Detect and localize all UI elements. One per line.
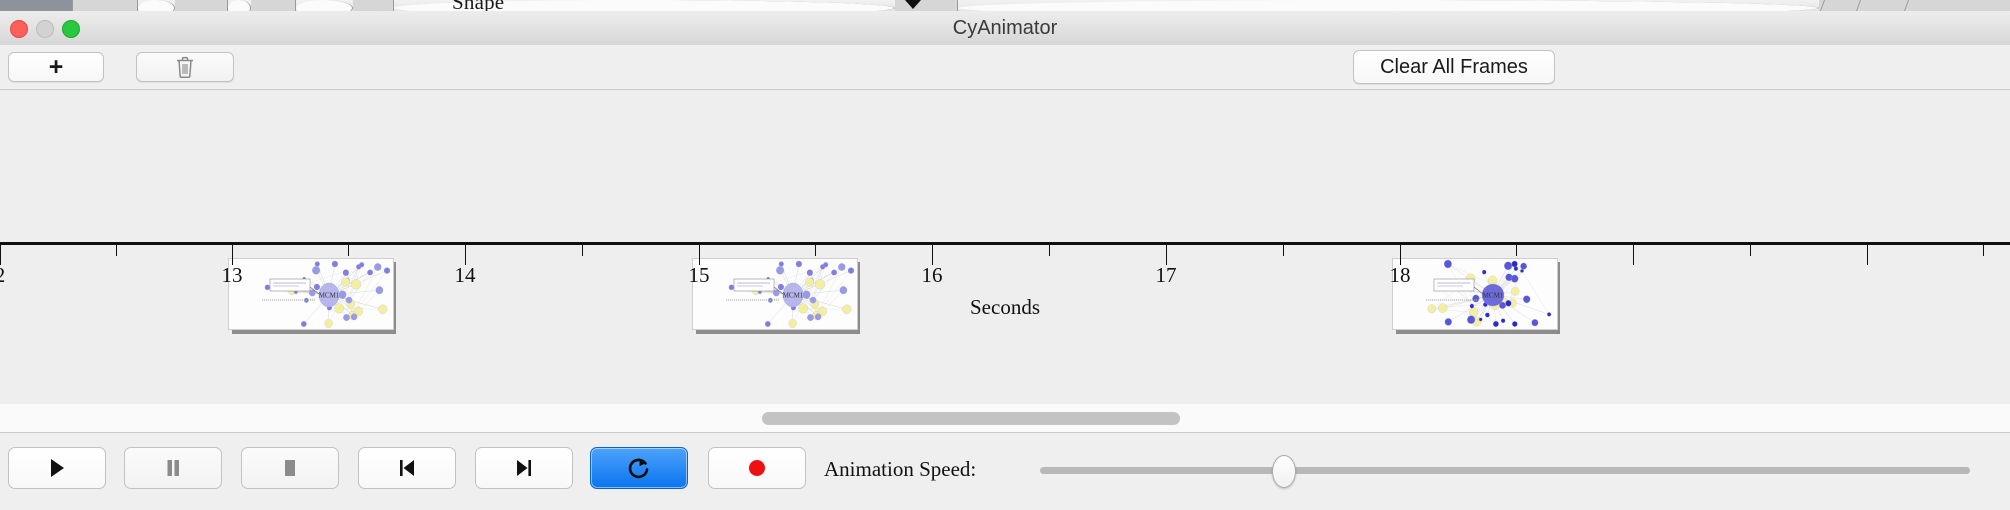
- tick-major: [699, 245, 700, 265]
- animation-speed-label: Animation Speed:: [824, 457, 976, 482]
- tick-major: [1166, 245, 1167, 265]
- timeline-scrollbar[interactable]: [0, 404, 2010, 433]
- tick-minor: [116, 245, 117, 256]
- record-icon: [744, 455, 770, 481]
- stop-icon: [277, 455, 303, 481]
- tick-label: 18: [1390, 263, 1411, 288]
- first-frame-button[interactable]: [358, 447, 456, 489]
- toolbar: + Clear All Frames: [0, 45, 2010, 90]
- play-button[interactable]: [8, 447, 106, 489]
- trash-icon: [175, 56, 195, 78]
- clear-all-frames-button[interactable]: Clear All Frames: [1353, 50, 1555, 84]
- window-title: CyAnimator: [0, 11, 2010, 45]
- tick-label: 2: [0, 263, 5, 288]
- tick-major: [232, 245, 233, 265]
- record-button[interactable]: [708, 447, 806, 489]
- title-bar: CyAnimator: [0, 11, 2010, 46]
- tick-minor: [1750, 245, 1751, 256]
- tick-major: [1633, 245, 1634, 265]
- timeline-scrollbar-thumb[interactable]: [762, 412, 1180, 425]
- tick-major: [1867, 245, 1868, 265]
- pause-button[interactable]: [124, 447, 222, 489]
- slider-thumb[interactable]: [1272, 455, 1296, 488]
- tick-minor: [1516, 245, 1517, 256]
- timeline-panel[interactable]: MCM1 MCM1 MCM1 2131415161718 Seconds: [0, 90, 2010, 405]
- tick-minor: [1983, 245, 1984, 256]
- timeline-axis-label: Seconds: [0, 295, 2010, 320]
- tick-label: 16: [922, 263, 943, 288]
- tick-label: 13: [222, 263, 243, 288]
- tick-label: 17: [1156, 263, 1177, 288]
- add-frame-button[interactable]: +: [8, 52, 104, 82]
- transport-bar: Animation Speed:: [0, 433, 2010, 510]
- background-caret-icon: [905, 0, 921, 9]
- tick-minor: [815, 245, 816, 256]
- plus-icon: +: [49, 55, 64, 80]
- skip-to-start-icon: [394, 455, 420, 481]
- loop-button[interactable]: [590, 447, 688, 489]
- tick-minor: [1049, 245, 1050, 256]
- timeline-axis-line: [0, 242, 2010, 245]
- tick-label: 14: [455, 263, 476, 288]
- stop-button[interactable]: [241, 447, 339, 489]
- tick-major: [465, 245, 466, 265]
- delete-frame-button[interactable]: [136, 52, 234, 82]
- tick-minor: [582, 245, 583, 256]
- tick-major: [932, 245, 933, 265]
- cyanimator-window: Shape CyAnimator + Clear All Frames: [0, 0, 2010, 510]
- pause-icon: [160, 455, 186, 481]
- slider-track: [1040, 467, 1970, 474]
- skip-to-end-icon: [511, 455, 537, 481]
- play-icon: [44, 455, 70, 481]
- tick-label: 15: [689, 263, 710, 288]
- tick-minor: [1283, 245, 1284, 256]
- animation-speed-slider[interactable]: [1040, 467, 1970, 475]
- tick-minor: [348, 245, 349, 256]
- tick-major: [1400, 245, 1401, 265]
- last-frame-button[interactable]: [475, 447, 573, 489]
- tick-major: [0, 245, 1, 265]
- loop-icon: [625, 454, 653, 482]
